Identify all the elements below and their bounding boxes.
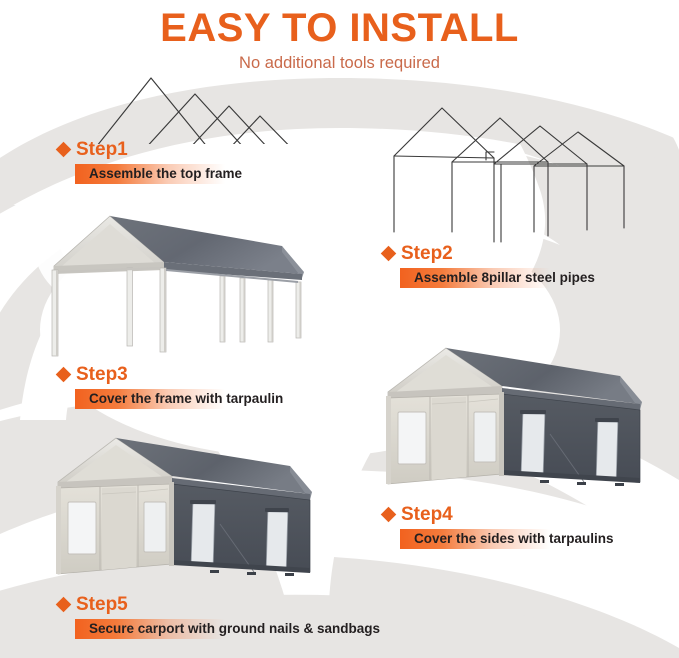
step-4-heading: Step4 xyxy=(383,503,614,525)
step-block-2: Step2 Assemble 8pillar steel pipes xyxy=(383,242,595,288)
illustration-carport-enclosed xyxy=(372,342,672,504)
step-5-title: Step5 xyxy=(76,595,128,614)
step-3-caption-wrap: Cover the frame with tarpaulin xyxy=(75,389,283,409)
step-block-1: Step1 Assemble the top frame xyxy=(58,138,242,184)
step-5-heading: Step5 xyxy=(58,593,380,615)
step-2-heading: Step2 xyxy=(383,242,595,264)
illustration-carport-canopy-open xyxy=(32,208,342,360)
step-4-caption: Cover the sides with tarpaulins xyxy=(400,532,614,546)
diamond-bullet-icon xyxy=(56,366,72,382)
step-2-caption: Assemble 8pillar steel pipes xyxy=(400,271,595,285)
step-1-caption: Assemble the top frame xyxy=(75,167,242,181)
diamond-bullet-icon xyxy=(56,596,72,612)
header: EASY TO INSTALL No additional tools requ… xyxy=(0,0,679,72)
step-2-title: Step2 xyxy=(401,244,453,263)
step-5-caption: Secure carport with ground nails & sandb… xyxy=(75,622,380,636)
illustration-frame-with-legs-wireframe xyxy=(382,104,642,262)
illustration-carport-enclosed-secured xyxy=(42,432,342,594)
step-1-caption-wrap: Assemble the top frame xyxy=(75,164,242,184)
diamond-bullet-icon xyxy=(381,506,397,522)
diamond-bullet-icon xyxy=(56,141,72,157)
illustration-roof-trusses-wireframe xyxy=(55,62,295,144)
step-3-caption: Cover the frame with tarpaulin xyxy=(75,392,283,406)
step-1-title: Step1 xyxy=(76,140,128,159)
step-3-title: Step3 xyxy=(76,365,128,384)
step-3-heading: Step3 xyxy=(58,363,283,385)
step-5-caption-wrap: Secure carport with ground nails & sandb… xyxy=(75,619,380,639)
infographic-root: EASY TO INSTALL No additional tools requ… xyxy=(0,0,679,658)
step-4-title: Step4 xyxy=(401,505,453,524)
step-block-3: Step3 Cover the frame with tarpaulin xyxy=(58,363,283,409)
step-4-caption-wrap: Cover the sides with tarpaulins xyxy=(400,529,614,549)
page-title: EASY TO INSTALL xyxy=(0,8,679,48)
step-1-heading: Step1 xyxy=(58,138,242,160)
step-2-caption-wrap: Assemble 8pillar steel pipes xyxy=(400,268,595,288)
step-block-4: Step4 Cover the sides with tarpaulins xyxy=(383,503,614,549)
step-block-5: Step5 Secure carport with ground nails &… xyxy=(58,593,380,639)
diamond-bullet-icon xyxy=(381,245,397,261)
page-subtitle: No additional tools required xyxy=(0,55,679,72)
